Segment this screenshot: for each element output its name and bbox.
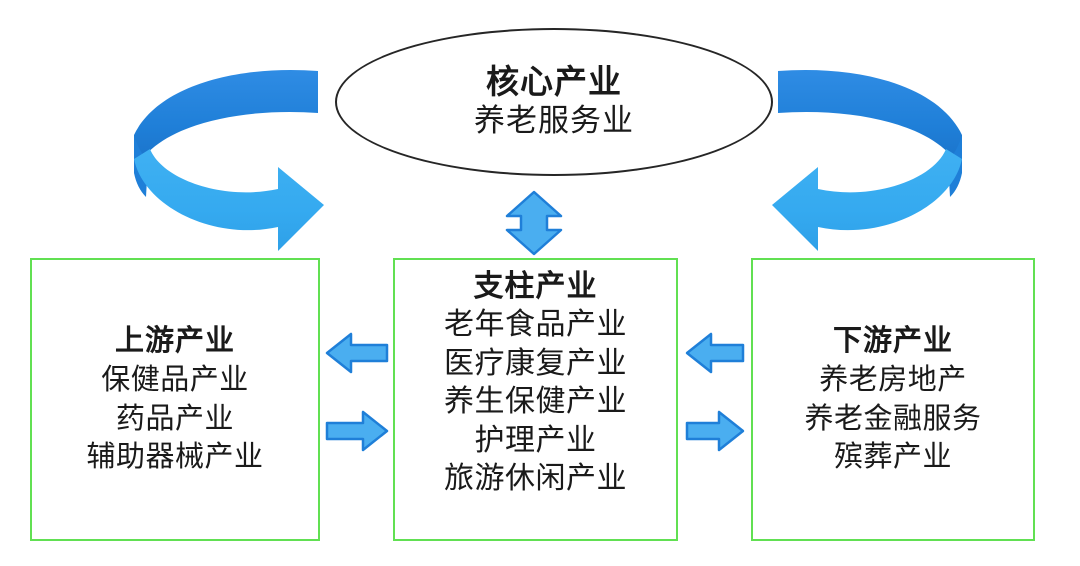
downstream-item: 殡葬产业 [834,438,952,477]
downstream-title: 下游产业 [833,322,953,361]
core-industry-ellipse: 核心产业 养老服务业 [335,28,773,176]
downstream-industry-box: 下游产业 养老房地产 养老金融服务 殡葬产业 [751,258,1035,541]
upstream-industry-box: 上游产业 保健品产业 药品产业 辅助器械产业 [30,258,320,541]
core-industry-subtitle: 养老服务业 [474,103,634,140]
downstream-item: 养老房地产 [819,361,967,400]
arrow-pillar-to-downstream [684,408,746,459]
upstream-item: 保健品产业 [101,361,249,400]
double-headed-vertical-arrow [503,190,565,261]
upstream-item: 药品产业 [116,400,234,439]
upstream-item: 辅助器械产业 [86,438,263,477]
pillar-item: 旅游休闲产业 [444,460,627,498]
diagram-canvas: 核心产业 养老服务业 上游产业 保健品产业 药品产业 辅助器械产业 [0,0,1080,566]
pillar-item: 护理产业 [475,422,597,460]
pillar-industry-box: 支柱产业 老年食品产业 医疗康复产业 养生保健产业 护理产业 旅游休闲产业 [393,258,678,541]
curved-arrow-right [768,63,978,258]
arrow-pillar-to-upstream [324,330,390,381]
curved-arrow-left [118,63,328,258]
downstream-item: 养老金融服务 [804,400,981,439]
arrow-upstream-to-pillar [324,408,390,459]
pillar-title: 支柱产业 [474,268,598,306]
arrow-downstream-to-pillar [684,330,746,381]
pillar-item: 老年食品产业 [444,306,627,344]
pillar-item: 医疗康复产业 [444,345,627,383]
upstream-title: 上游产业 [115,322,235,361]
pillar-item: 养生保健产业 [444,383,627,421]
core-industry-title: 核心产业 [486,64,622,103]
